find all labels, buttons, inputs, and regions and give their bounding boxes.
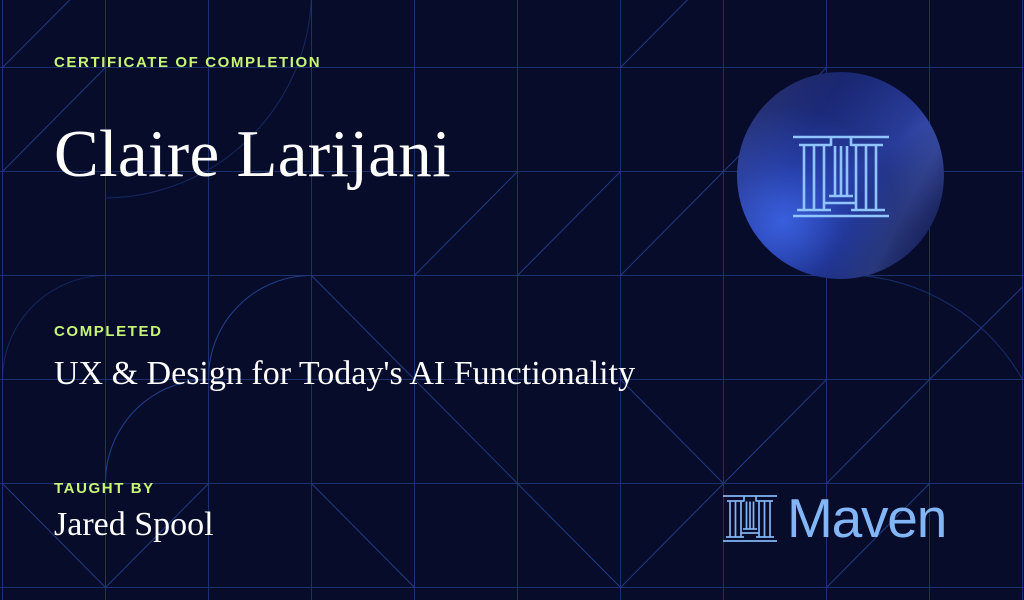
maven-columns-icon xyxy=(722,491,778,546)
maven-wordmark: Maven xyxy=(787,491,946,546)
recipient-name: Claire Larijani xyxy=(54,119,451,189)
taught-by-label: TAUGHT BY xyxy=(54,480,155,497)
maven-logo-lockup: Maven xyxy=(722,491,946,546)
maven-columns-seal-icon xyxy=(791,128,891,224)
certificate-content: CERTIFICATE OF COMPLETION Claire Larijan… xyxy=(0,0,1024,600)
completed-label: COMPLETED xyxy=(54,323,163,340)
certificate-kicker: CERTIFICATE OF COMPLETION xyxy=(54,54,321,71)
course-title: UX & Design for Today's AI Functionality xyxy=(54,354,635,393)
certificate-card: CERTIFICATE OF COMPLETION Claire Larijan… xyxy=(0,0,1024,600)
certificate-seal-badge xyxy=(737,72,944,279)
instructor-name: Jared Spool xyxy=(54,505,214,544)
